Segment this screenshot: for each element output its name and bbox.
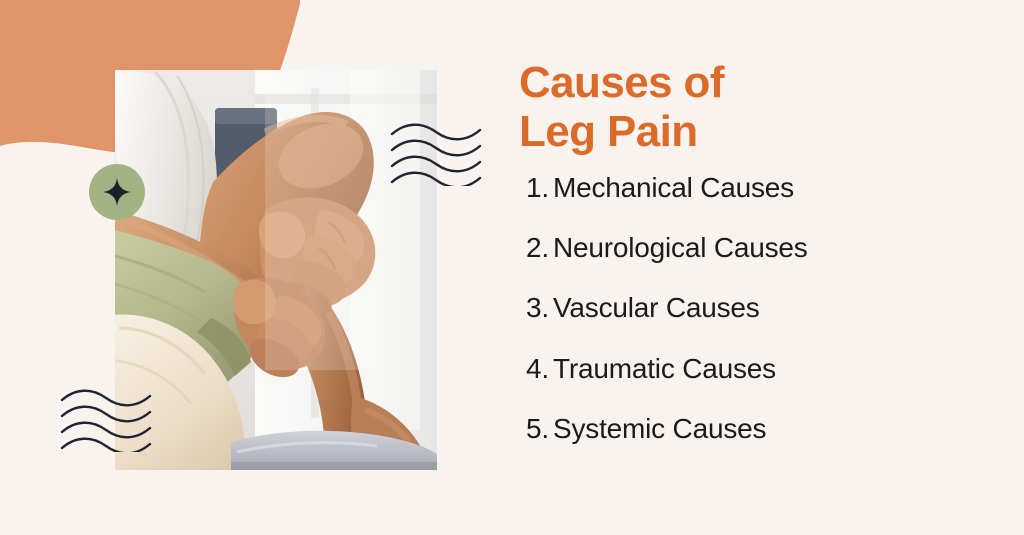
content-column: Causes of Leg Pain 1. Mechanical Causes … — [519, 58, 989, 443]
sparkle-four-point-icon — [103, 178, 131, 206]
list-item: 4. Traumatic Causes — [519, 354, 989, 383]
page-title: Causes of Leg Pain — [519, 58, 989, 157]
list-item: 5. Systemic Causes — [519, 414, 989, 443]
page-title-line-1: Causes of — [519, 58, 989, 107]
list-item-number: 1. — [519, 173, 549, 202]
list-item-label: Systemic Causes — [553, 414, 989, 443]
list-item: 2. Neurological Causes — [519, 233, 989, 262]
list-item-number: 2. — [519, 233, 549, 262]
page-title-line-2: Leg Pain — [519, 107, 989, 156]
leg-pain-photo — [115, 70, 437, 470]
list-item: 1. Mechanical Causes — [519, 173, 989, 202]
list-item: 3. Vascular Causes — [519, 293, 989, 322]
list-item-number: 3. — [519, 293, 549, 322]
list-item-label: Traumatic Causes — [553, 354, 989, 383]
infographic-canvas: Causes of Leg Pain 1. Mechanical Causes … — [0, 0, 1024, 535]
causes-list: 1. Mechanical Causes 2. Neurological Cau… — [519, 173, 989, 444]
list-item-label: Vascular Causes — [553, 293, 989, 322]
list-item-number: 4. — [519, 354, 549, 383]
sparkle-badge — [89, 164, 145, 220]
list-item-label: Mechanical Causes — [553, 173, 989, 202]
list-item-number: 5. — [519, 414, 549, 443]
list-item-label: Neurological Causes — [553, 233, 989, 262]
